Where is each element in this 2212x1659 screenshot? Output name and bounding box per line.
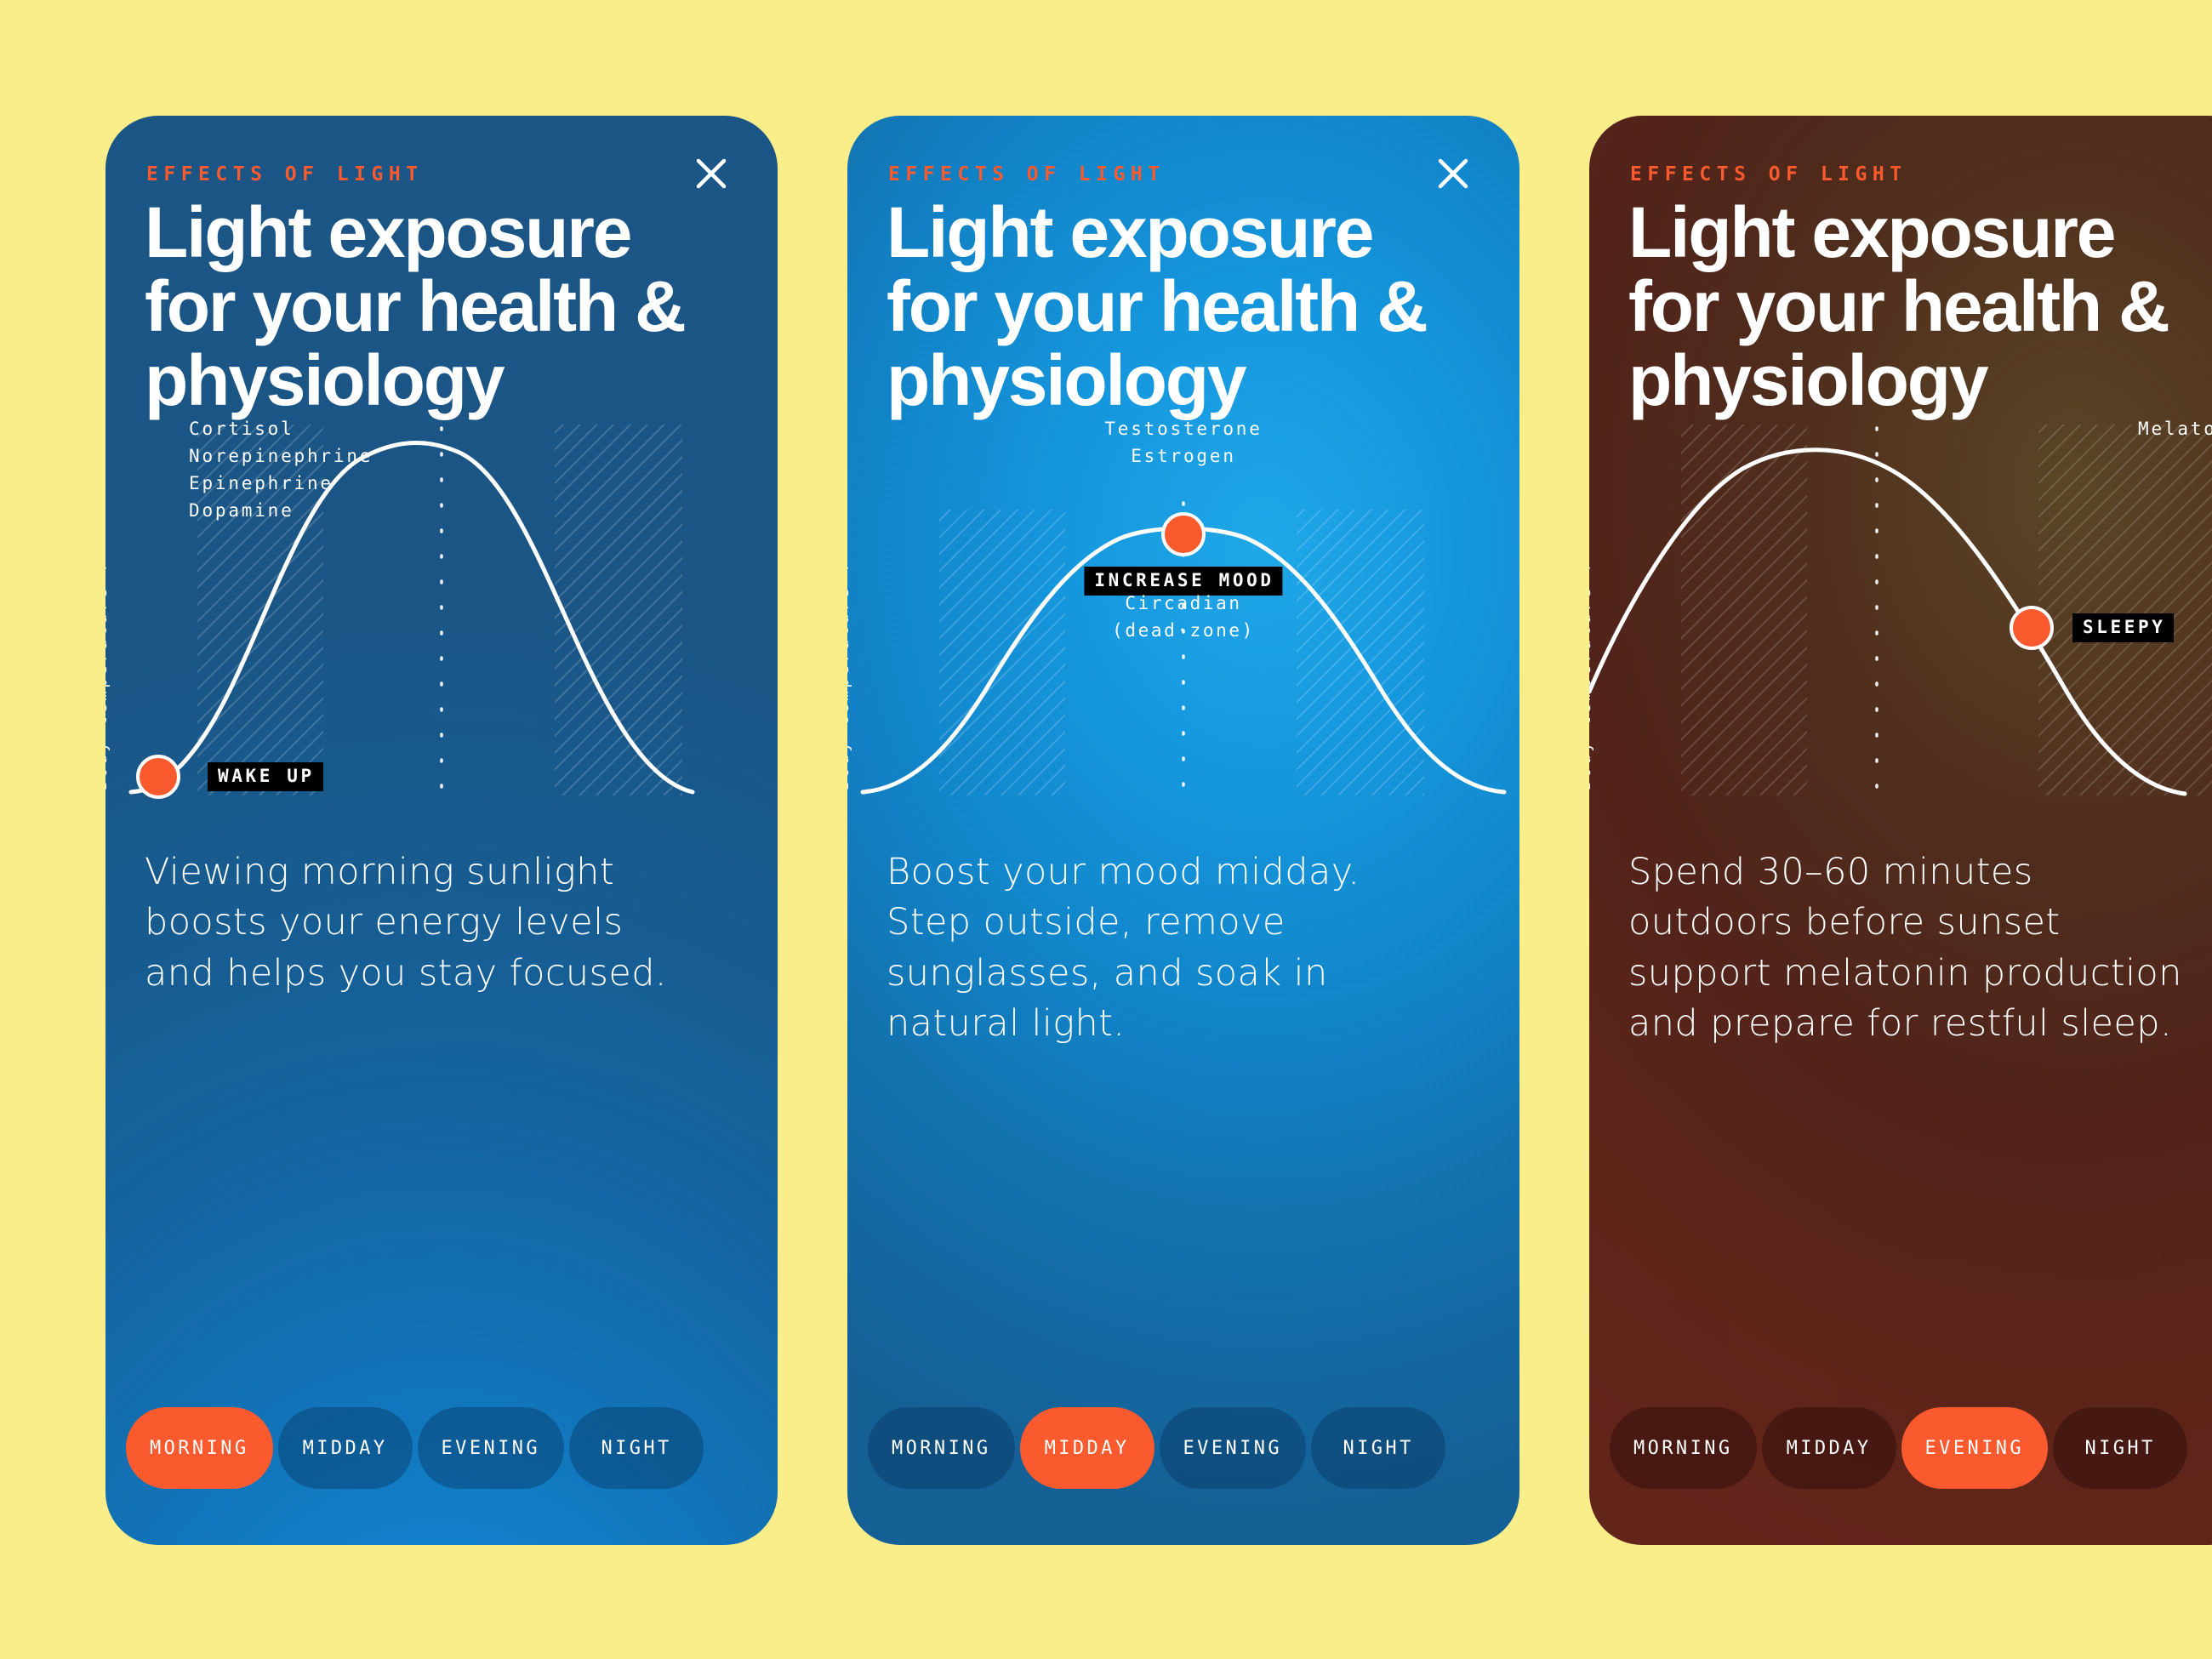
card-morning: EFFECTS OF LIGHT Light exposure for your… bbox=[105, 116, 778, 1545]
hatch-band-left bbox=[1681, 425, 1807, 795]
status-badge-wake-up: WAKE UP bbox=[208, 762, 323, 791]
circadian-chart-midday: Body temperature ↑ Testosterone Estrogen… bbox=[847, 409, 1519, 795]
page-title: Light exposure for your health & physiol… bbox=[1628, 196, 2212, 418]
eyebrow-label: EFFECTS OF LIGHT bbox=[146, 163, 424, 185]
status-badge-increase-mood: INCREASE MOOD bbox=[1084, 567, 1282, 596]
status-badge-sleepy: SLEEPY bbox=[2072, 613, 2174, 642]
carousel: EFFECTS OF LIGHT Light exposure for your… bbox=[0, 0, 2212, 1659]
pill-evening[interactable]: EVENING bbox=[1160, 1407, 1307, 1489]
page-title: Light exposure for your health & physiol… bbox=[145, 196, 757, 418]
eyebrow-label: EFFECTS OF LIGHT bbox=[1630, 163, 1907, 185]
y-axis-label: Body temperature ↑ bbox=[105, 560, 111, 790]
hatch-band-left bbox=[939, 510, 1065, 795]
marker-dot-midday[interactable] bbox=[1163, 514, 1204, 555]
marker-dot-evening[interactable] bbox=[2011, 607, 2052, 648]
card-midday: EFFECTS OF LIGHT Light exposure for your… bbox=[847, 116, 1519, 1545]
hormone-list: Testosterone Estrogen bbox=[847, 416, 1519, 470]
pill-midday[interactable]: MIDDAY bbox=[1020, 1407, 1154, 1489]
pill-morning[interactable]: MORNING bbox=[1610, 1407, 1757, 1489]
chart-svg bbox=[1589, 409, 2212, 795]
hormone-list: Melatonin bbox=[2138, 416, 2212, 443]
close-icon-glyph bbox=[693, 156, 729, 191]
close-icon-glyph bbox=[1435, 156, 1471, 191]
circadian-chart-morning: Body temperature ↑ Cortisol Norepinephri… bbox=[105, 409, 778, 795]
pill-night[interactable]: NIGHT bbox=[2053, 1407, 2187, 1489]
hormone-list: Cortisol Norepinephrine Epinephrine Dopa… bbox=[189, 416, 373, 525]
y-axis-label: Body temperature ↑ bbox=[1589, 560, 1594, 790]
pill-evening[interactable]: EVENING bbox=[418, 1407, 565, 1489]
hatch-band-right bbox=[1297, 510, 1424, 795]
pill-midday[interactable]: MIDDAY bbox=[278, 1407, 413, 1489]
card-evening: EFFECTS OF LIGHT Light exposure for your… bbox=[1589, 116, 2212, 1545]
close-icon[interactable] bbox=[1426, 146, 1480, 201]
pill-night[interactable]: NIGHT bbox=[1311, 1407, 1445, 1489]
y-axis-label: Body temperature ↑ bbox=[847, 560, 852, 790]
circadian-chart-evening: Body temperature ↑ Melatonin SLEEPY bbox=[1589, 409, 2212, 795]
pill-morning[interactable]: MORNING bbox=[868, 1407, 1015, 1489]
close-icon[interactable] bbox=[684, 146, 738, 201]
body-copy: Spend 30–60 minutes outdoors before suns… bbox=[1628, 847, 2212, 1049]
body-copy: Boost your mood midday. Step outside, re… bbox=[887, 847, 1482, 1049]
page-title: Light exposure for your health & physiol… bbox=[887, 196, 1499, 418]
pill-night[interactable]: NIGHT bbox=[569, 1407, 704, 1489]
time-of-day-selector: MORNING MIDDAY EVENING NIGHT bbox=[126, 1407, 704, 1489]
time-of-day-selector: MORNING MIDDAY EVENING NIGHT bbox=[868, 1407, 1445, 1489]
pill-morning[interactable]: MORNING bbox=[126, 1407, 273, 1489]
marker-dot-morning[interactable] bbox=[138, 756, 179, 797]
pill-evening[interactable]: EVENING bbox=[1901, 1407, 2049, 1489]
body-copy: Viewing morning sunlight boosts your ene… bbox=[145, 847, 740, 999]
eyebrow-label: EFFECTS OF LIGHT bbox=[888, 163, 1166, 185]
pill-midday[interactable]: MIDDAY bbox=[1762, 1407, 1896, 1489]
time-of-day-selector: MORNING MIDDAY EVENING NIGHT bbox=[1610, 1407, 2187, 1489]
hatch-band-right bbox=[555, 425, 682, 795]
hatch-band-right bbox=[2038, 425, 2212, 795]
